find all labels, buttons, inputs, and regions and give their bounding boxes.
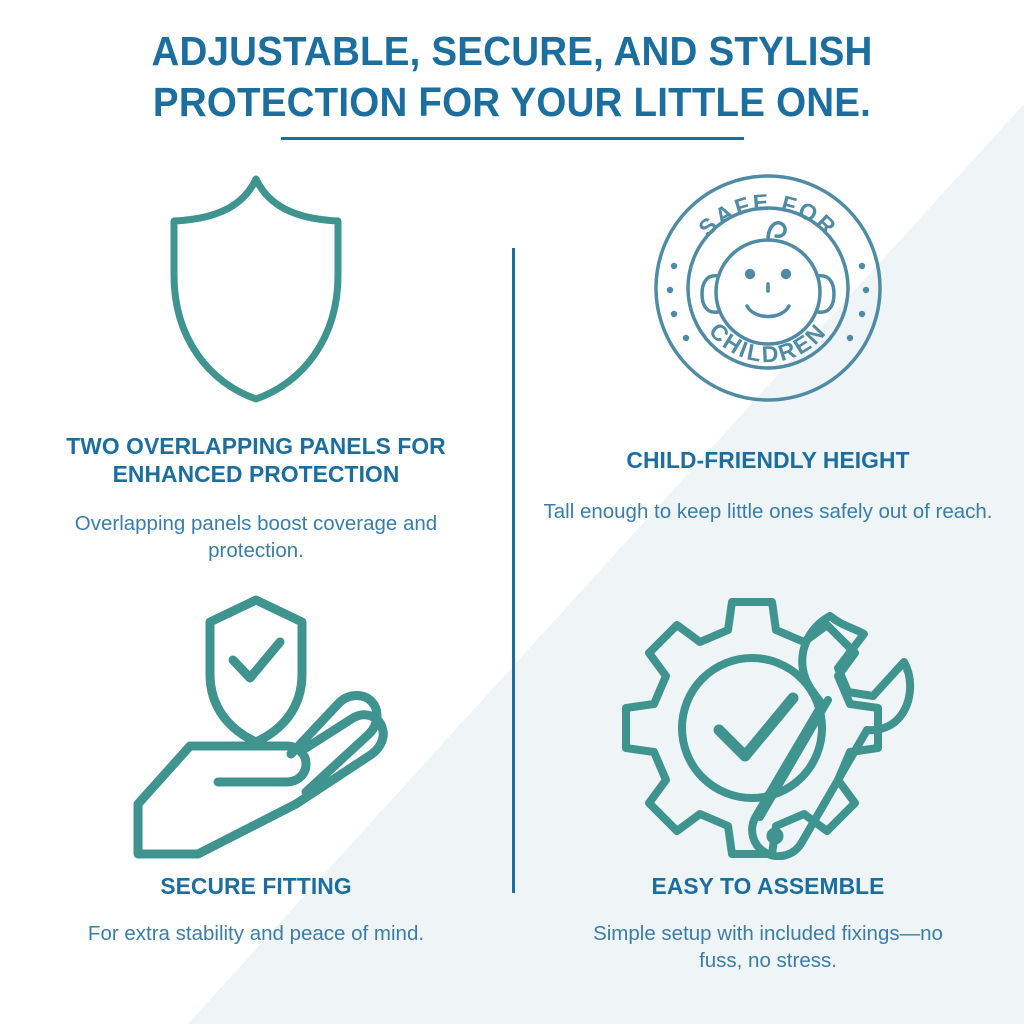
title-divider — [281, 137, 744, 140]
wrench-icon — [752, 616, 910, 856]
feature-title: EASY TO ASSEMBLE — [527, 872, 1008, 900]
shield-icon — [148, 171, 364, 405]
feature-title: TWO OVERLAPPING PANELS FOR ENHANCED PROT… — [15, 432, 496, 488]
feature-description: Simple setup with included fixings—no fu… — [520, 920, 1016, 974]
feature-description: Overlapping panels boost coverage and pr… — [8, 510, 504, 564]
feature-secure-fitting: SECURE FITTING For extra stability and p… — [8, 588, 504, 947]
feature-icon-wrap — [520, 588, 1016, 860]
feature-two-overlapping-panels: TWO OVERLAPPING PANELS FOR ENHANCED PROT… — [8, 160, 504, 564]
safe-for-children-badge-icon: SAFE FOR CHILDREN — [648, 168, 888, 408]
feature-easy-to-assemble: EASY TO ASSEMBLE Simple setup with inclu… — [520, 588, 1016, 974]
headline-line-2: PROTECTION FOR YOUR LITTLE ONE. — [31, 77, 994, 128]
feature-description: Tall enough to keep little ones safely o… — [520, 498, 1016, 525]
center-divider — [512, 248, 515, 893]
headline-line-1: ADJUSTABLE, SECURE, AND STYLISH — [31, 26, 994, 77]
gear-wrench-check-icon — [618, 588, 918, 860]
feature-child-friendly-height: SAFE FOR CHILDREN — [520, 160, 1016, 525]
hand-holding-shield-check-icon — [110, 588, 402, 860]
baby-eyes-icon — [745, 269, 791, 279]
page-title: ADJUSTABLE, SECURE, AND STYLISH PROTECTI… — [0, 26, 1024, 128]
feature-title: SECURE FITTING — [15, 872, 496, 900]
feature-icon-wrap — [8, 588, 504, 860]
feature-icon-wrap — [8, 160, 504, 416]
badge-dots-icon — [667, 263, 869, 341]
feature-icon-wrap: SAFE FOR CHILDREN — [520, 160, 1016, 416]
feature-description: For extra stability and peace of mind. — [8, 920, 504, 947]
infographic-canvas: ADJUSTABLE, SECURE, AND STYLISH PROTECTI… — [0, 0, 1024, 1024]
feature-title: CHILD-FRIENDLY HEIGHT — [527, 446, 1008, 474]
